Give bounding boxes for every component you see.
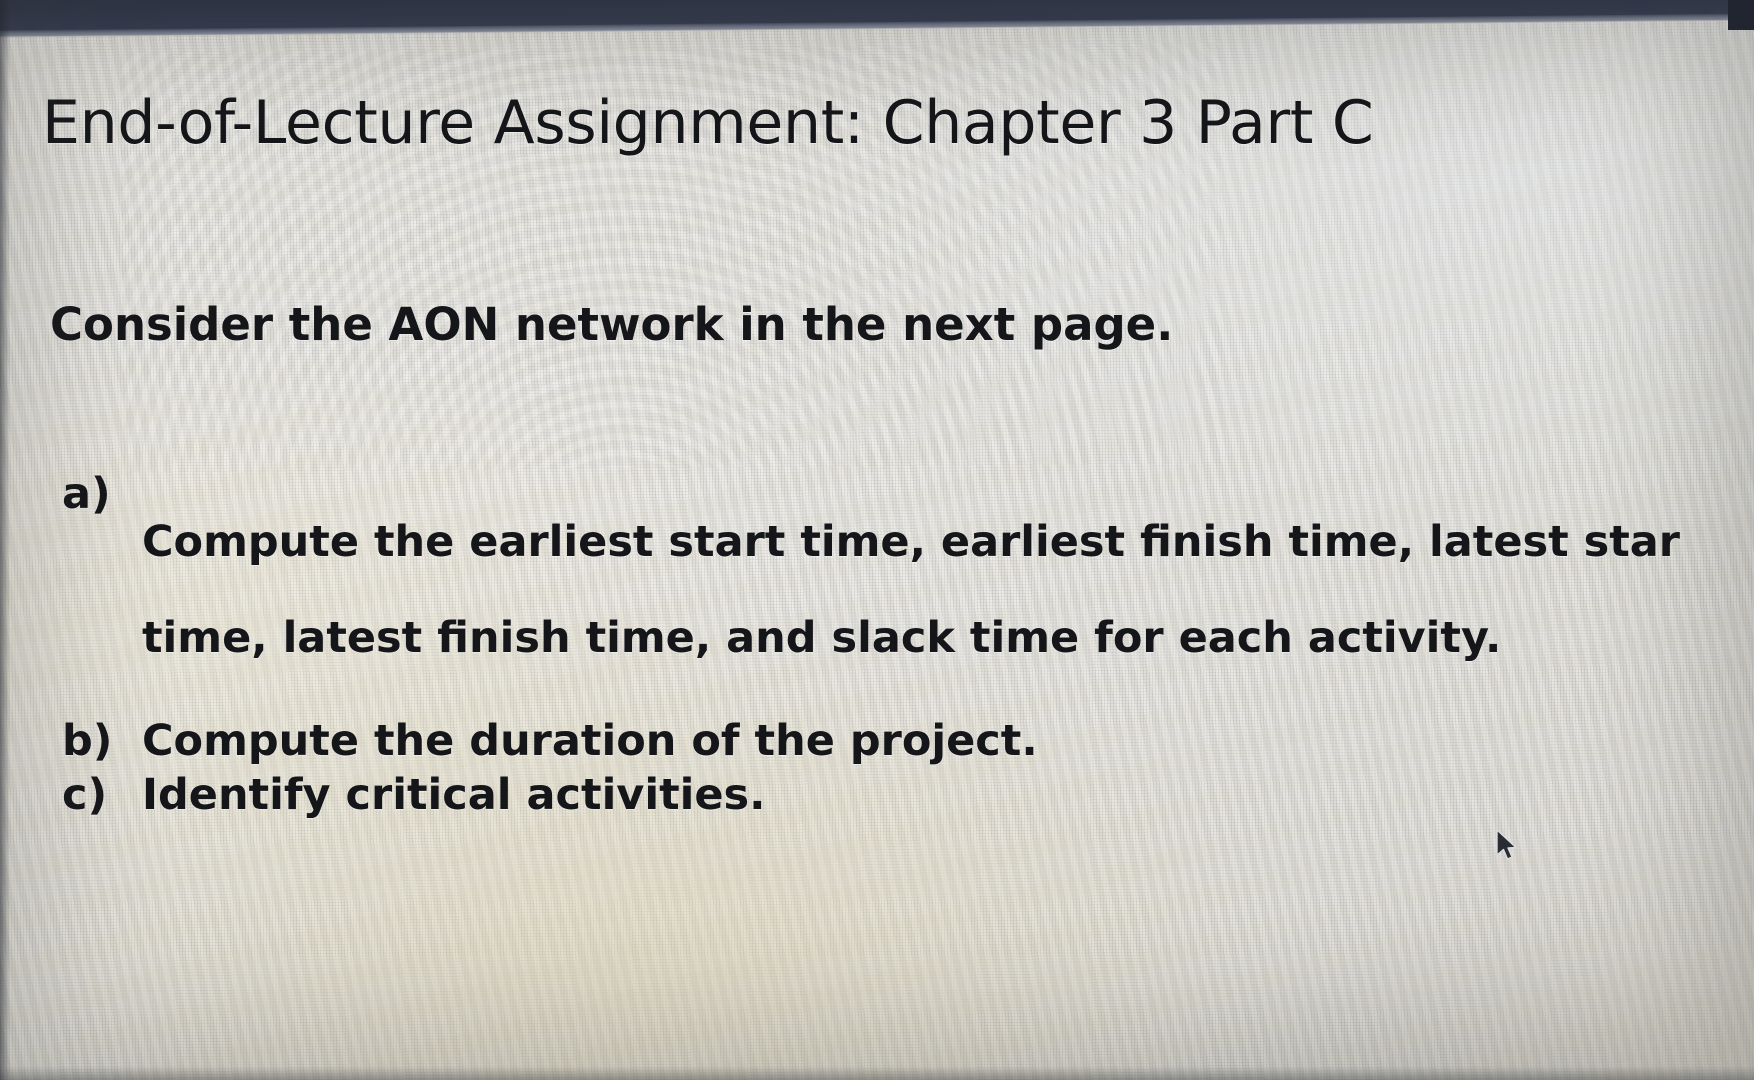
slide-title: End-of-Lecture Assignment: Chapter 3 Par… [42,88,1373,158]
list-item-marker: b) [56,717,142,765]
list-item: c) Identify critical activities. [56,771,1754,819]
list-item-text-line1: Identify critical activities. [142,771,1754,819]
slide-lead-line: Consider the AON network in the next pag… [50,298,1173,351]
list-item-marker: a) [56,470,142,518]
window-control-corner[interactable] [1728,0,1754,30]
list-item-text-line2: time, latest finish time, and slack time… [142,614,1754,662]
list-item-text-line1: Compute the earliest start time, earlies… [142,518,1754,566]
photographed-screen: End-of-Lecture Assignment: Chapter 3 Par… [0,0,1754,1080]
list-item: b) Compute the duration of the project. [56,717,1754,765]
slide-content: End-of-Lecture Assignment: Chapter 3 Par… [0,0,1754,1080]
task-list: a) Compute the earliest start time, earl… [56,470,1754,825]
list-item-text-line1: Compute the duration of the project. [142,717,1754,765]
list-item: a) Compute the earliest start time, earl… [56,470,1754,711]
list-item-marker: c) [56,771,142,819]
